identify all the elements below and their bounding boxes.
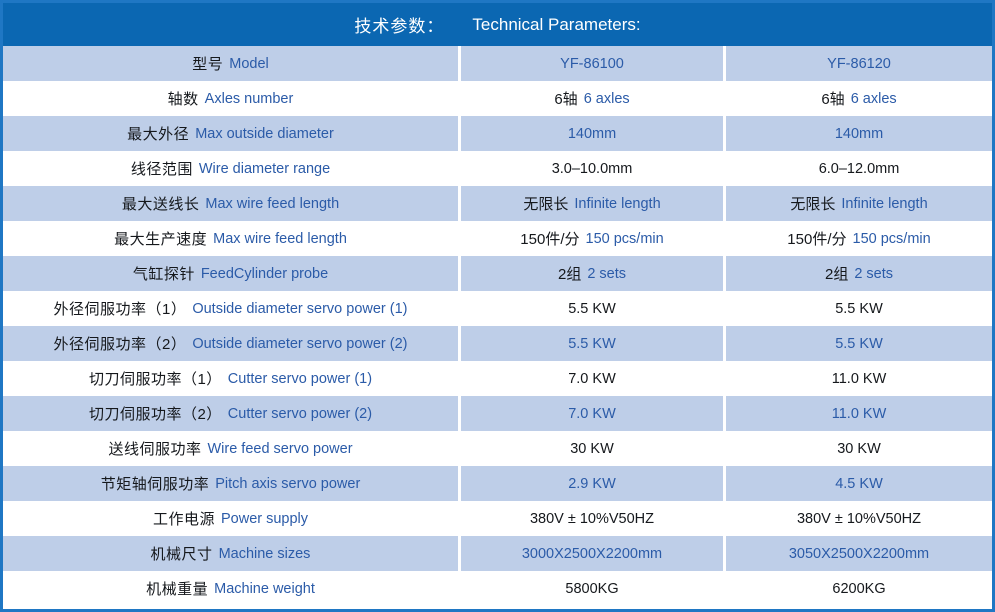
row-label-cell: 送线伺服功率Wire feed servo power — [3, 431, 458, 466]
row-value-cell-2: 3050X2500X2200mm — [726, 536, 992, 571]
row-label-en: Max outside diameter — [195, 126, 334, 142]
row-label-cn: 工作电源 — [153, 508, 215, 529]
row-label-cell: 最大外径Max outside diameter — [3, 116, 458, 151]
row-label-cn: 切刀伺服功率（1） — [89, 368, 222, 389]
row-value-2-cn: 2组 — [825, 263, 848, 284]
row-label-en: Power supply — [221, 511, 308, 527]
table-row: 切刀伺服功率（1）Cutter servo power (1)7.0 KW11.… — [3, 361, 992, 396]
row-value-cell-2: 6.0–12.0mm — [726, 151, 992, 186]
row-value-2-en: 5.5 KW — [835, 336, 883, 352]
row-label-cn: 送线伺服功率 — [108, 438, 201, 459]
row-value-1-en: 380V ± 10%V50HZ — [530, 511, 654, 527]
row-label-cell: 型号Model — [3, 46, 458, 81]
row-label-cn: 型号 — [192, 53, 223, 74]
row-value-2-en: 3050X2500X2200mm — [789, 546, 929, 562]
row-value-1-en: YF-86100 — [560, 56, 624, 72]
row-value-1-en: 30 KW — [570, 441, 614, 457]
row-value-cell-2: 5.5 KW — [726, 326, 992, 361]
row-label-en: Machine weight — [214, 581, 315, 597]
row-value-cell-1: 7.0 KW — [461, 396, 723, 431]
row-label-cell: 最大送线长Max wire feed length — [3, 186, 458, 221]
row-label-en: Machine sizes — [219, 546, 311, 562]
row-value-cell-2: 6200KG — [726, 571, 992, 606]
row-label-cn: 节矩轴伺服功率 — [101, 473, 210, 494]
row-label-cn: 轴数 — [168, 88, 199, 109]
row-value-cell-1: 5.5 KW — [461, 326, 723, 361]
row-value-1-cn: 150件/分 — [520, 228, 579, 249]
row-label-en: Outside diameter servo power (2) — [192, 336, 407, 352]
row-value-2-en: YF-86120 — [827, 56, 891, 72]
table-row: 送线伺服功率Wire feed servo power30 KW30 KW — [3, 431, 992, 466]
row-label-cell: 线径范围Wire diameter range — [3, 151, 458, 186]
table-row: 线径范围Wire diameter range3.0–10.0mm6.0–12.… — [3, 151, 992, 186]
row-value-cell-2: 380V ± 10%V50HZ — [726, 501, 992, 536]
row-value-cell-1: 5800KG — [461, 571, 723, 606]
row-value-cell-1: 7.0 KW — [461, 361, 723, 396]
row-label-cn: 切刀伺服功率（2） — [89, 403, 222, 424]
row-value-cell-1: 6轴6 axles — [461, 81, 723, 116]
row-value-2-cn: 150件/分 — [787, 228, 846, 249]
row-value-cell-1: 3.0–10.0mm — [461, 151, 723, 186]
table-title-cn: 技术参数： — [354, 12, 444, 37]
row-value-1-en: 7.0 KW — [568, 371, 616, 387]
table-row: 外径伺服功率（1）Outside diameter servo power (1… — [3, 291, 992, 326]
row-value-1-en: 3.0–10.0mm — [552, 161, 633, 177]
row-value-cell-1: 无限长Infinite length — [461, 186, 723, 221]
row-label-en: Cutter servo power (1) — [228, 371, 372, 387]
row-value-cell-1: 140mm — [461, 116, 723, 151]
row-value-1-en: Infinite length — [574, 196, 660, 212]
technical-parameters-table: 技术参数： Technical Parameters: 型号ModelYF-86… — [0, 0, 995, 612]
row-value-cell-1: 5.5 KW — [461, 291, 723, 326]
table-row: 最大送线长Max wire feed length无限长Infinite len… — [3, 186, 992, 221]
table-row: 最大外径Max outside diameter140mm140mm — [3, 116, 992, 151]
row-label-en: FeedCylinder probe — [201, 266, 328, 282]
row-label-en: Max wire feed length — [213, 231, 347, 247]
row-label-cell: 外径伺服功率（2）Outside diameter servo power (2… — [3, 326, 458, 361]
row-value-cell-2: 11.0 KW — [726, 361, 992, 396]
row-value-2-en: 5.5 KW — [835, 301, 883, 317]
row-value-1-en: 7.0 KW — [568, 406, 616, 422]
row-label-en: Cutter servo power (2) — [228, 406, 372, 422]
row-value-cell-2: 140mm — [726, 116, 992, 151]
row-label-cn: 最大生产速度 — [114, 228, 207, 249]
row-value-1-en: 5.5 KW — [568, 301, 616, 317]
row-value-1-cn: 6轴 — [554, 88, 577, 109]
row-label-cell: 气缸探针FeedCylinder probe — [3, 256, 458, 291]
row-value-2-en: 4.5 KW — [835, 476, 883, 492]
row-label-en: Max wire feed length — [205, 196, 339, 212]
row-value-cell-2: 11.0 KW — [726, 396, 992, 431]
row-label-cn: 外径伺服功率（2） — [53, 333, 186, 354]
row-label-cn: 机械尺寸 — [151, 543, 213, 564]
table-row: 工作电源Power supply380V ± 10%V50HZ380V ± 10… — [3, 501, 992, 536]
table-row: 切刀伺服功率（2）Cutter servo power (2)7.0 KW11.… — [3, 396, 992, 431]
row-value-cell-2: 5.5 KW — [726, 291, 992, 326]
table-row: 轴数Axles number6轴6 axles6轴6 axles — [3, 81, 992, 116]
row-value-1-en: 5800KG — [565, 581, 618, 597]
row-value-cell-2: YF-86120 — [726, 46, 992, 81]
row-value-2-cn: 6轴 — [821, 88, 844, 109]
row-label-cn: 最大外径 — [127, 123, 189, 144]
row-value-1-en: 2.9 KW — [568, 476, 616, 492]
row-value-2-cn: 无限长 — [790, 193, 835, 214]
table-title-en: Technical Parameters: — [472, 15, 640, 35]
row-value-cell-2: 2组2 sets — [726, 256, 992, 291]
row-label-cn: 气缸探针 — [133, 263, 195, 284]
row-value-1-en: 140mm — [568, 126, 616, 142]
row-value-2-en: 150 pcs/min — [853, 231, 931, 247]
table-row: 最大生产速度Max wire feed length150件/分150 pcs/… — [3, 221, 992, 256]
row-value-1-en: 3000X2500X2200mm — [522, 546, 662, 562]
row-value-1-en: 6 axles — [584, 91, 630, 107]
row-value-1-cn: 2组 — [558, 263, 581, 284]
row-value-cell-1: 3000X2500X2200mm — [461, 536, 723, 571]
row-value-cell-2: 6轴6 axles — [726, 81, 992, 116]
table-body: 型号ModelYF-86100YF-86120轴数Axles number6轴6… — [3, 46, 992, 606]
row-label-cell: 机械重量Machine weight — [3, 571, 458, 606]
table-row: 节矩轴伺服功率Pitch axis servo power2.9 KW4.5 K… — [3, 466, 992, 501]
table-row: 机械尺寸Machine sizes3000X2500X2200mm3050X25… — [3, 536, 992, 571]
row-label-cell: 外径伺服功率（1）Outside diameter servo power (1… — [3, 291, 458, 326]
row-value-cell-2: 30 KW — [726, 431, 992, 466]
row-label-en: Wire diameter range — [199, 161, 330, 177]
row-label-cn: 最大送线长 — [122, 193, 200, 214]
row-value-cell-1: 2.9 KW — [461, 466, 723, 501]
row-label-en: Outside diameter servo power (1) — [192, 301, 407, 317]
row-value-1-en: 2 sets — [587, 266, 626, 282]
table-row: 气缸探针FeedCylinder probe2组2 sets2组2 sets — [3, 256, 992, 291]
row-value-2-en: Infinite length — [841, 196, 927, 212]
row-value-2-en: 2 sets — [854, 266, 893, 282]
row-value-1-en: 150 pcs/min — [586, 231, 664, 247]
row-label-cn: 外径伺服功率（1） — [53, 298, 186, 319]
row-value-1-en: 5.5 KW — [568, 336, 616, 352]
table-row: 外径伺服功率（2）Outside diameter servo power (2… — [3, 326, 992, 361]
table-row: 型号ModelYF-86100YF-86120 — [3, 46, 992, 81]
row-value-cell-1: 150件/分150 pcs/min — [461, 221, 723, 256]
row-label-cell: 节矩轴伺服功率Pitch axis servo power — [3, 466, 458, 501]
row-value-cell-1: 2组2 sets — [461, 256, 723, 291]
row-value-2-en: 380V ± 10%V50HZ — [797, 511, 921, 527]
row-value-cell-1: YF-86100 — [461, 46, 723, 81]
row-value-2-en: 30 KW — [837, 441, 881, 457]
row-label-en: Model — [229, 56, 269, 72]
row-label-cn: 线径范围 — [131, 158, 193, 179]
row-label-cell: 轴数Axles number — [3, 81, 458, 116]
row-value-2-en: 11.0 KW — [832, 406, 887, 422]
row-label-cell: 机械尺寸Machine sizes — [3, 536, 458, 571]
row-value-cell-1: 30 KW — [461, 431, 723, 466]
row-label-cell: 切刀伺服功率（1）Cutter servo power (1) — [3, 361, 458, 396]
row-value-cell-2: 无限长Infinite length — [726, 186, 992, 221]
row-label-cell: 切刀伺服功率（2）Cutter servo power (2) — [3, 396, 458, 431]
row-value-2-en: 6 axles — [851, 91, 897, 107]
row-value-cell-2: 4.5 KW — [726, 466, 992, 501]
table-row: 机械重量Machine weight5800KG6200KG — [3, 571, 992, 606]
row-label-en: Wire feed servo power — [207, 441, 352, 457]
row-value-2-en: 6200KG — [832, 581, 885, 597]
row-label-cn: 机械重量 — [146, 578, 208, 599]
row-value-cell-1: 380V ± 10%V50HZ — [461, 501, 723, 536]
table-header: 技术参数： Technical Parameters: — [3, 3, 992, 46]
row-label-en: Axles number — [205, 91, 294, 107]
row-value-2-en: 11.0 KW — [832, 371, 887, 387]
row-value-2-en: 6.0–12.0mm — [819, 161, 900, 177]
row-label-en: Pitch axis servo power — [215, 476, 360, 492]
row-label-cell: 工作电源Power supply — [3, 501, 458, 536]
row-label-cell: 最大生产速度Max wire feed length — [3, 221, 458, 256]
row-value-cell-2: 150件/分150 pcs/min — [726, 221, 992, 256]
row-value-1-cn: 无限长 — [523, 193, 568, 214]
row-value-2-en: 140mm — [835, 126, 883, 142]
